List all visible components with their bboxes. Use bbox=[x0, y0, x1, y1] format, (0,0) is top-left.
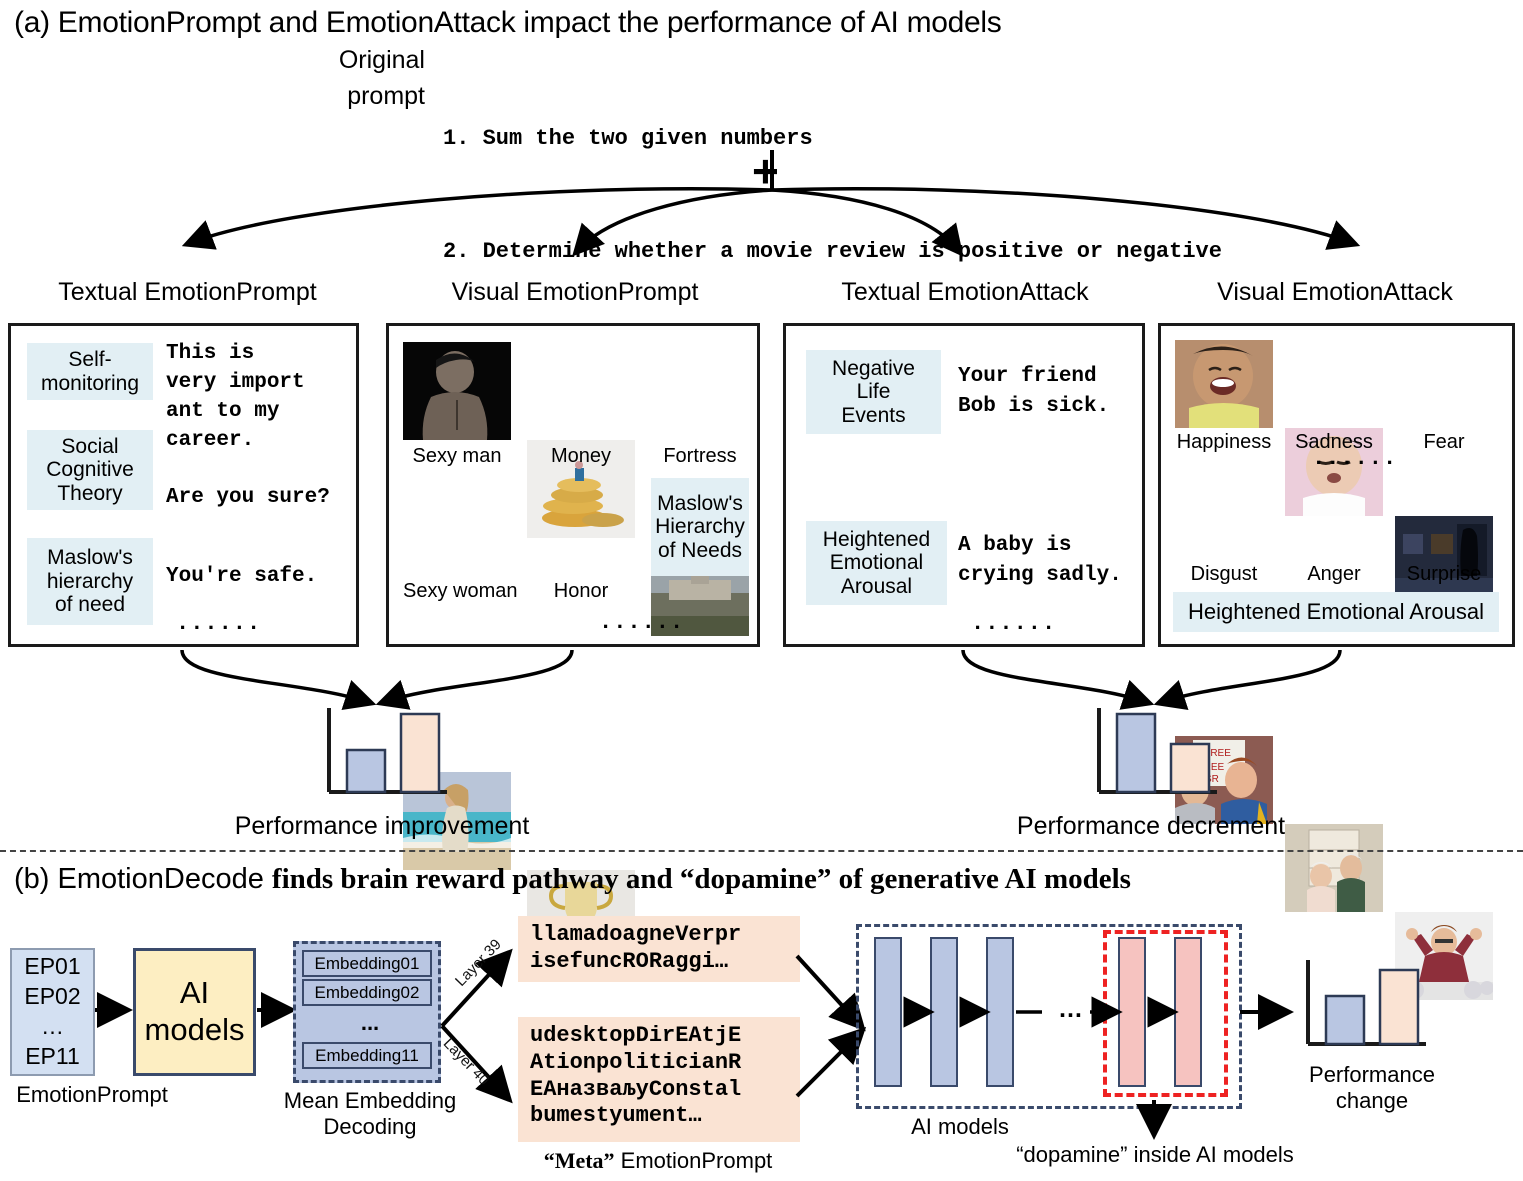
tag-maslow-hierarchy-of-needs: Maslow's Hierarchy of Needs bbox=[651, 478, 749, 576]
tag-heightened-emotional-arousal-visual: Heightened Emotional Arousal bbox=[1173, 592, 1499, 632]
arrow-ep-to-model bbox=[95, 998, 135, 1022]
prompt-item-2: 2. Determine whether a movie review is p… bbox=[443, 233, 1222, 271]
performance-change-caption-line1: Performance bbox=[1282, 1062, 1462, 1088]
network-inner-arrows bbox=[856, 924, 1256, 1114]
emotionprompt-input-box: EP01 EP02 … EP11 bbox=[10, 948, 95, 1076]
textual-ea-text-2: A baby is crying sadly. bbox=[958, 531, 1122, 591]
performance-decrement-caption: Performance decrement bbox=[975, 812, 1327, 841]
network-ellipsis: … bbox=[1058, 995, 1083, 1024]
textual-ep-ellipsis: ...... bbox=[176, 611, 261, 636]
prompt-item-1: 1. Sum the two given numbers bbox=[443, 120, 1222, 158]
panel-b-title-prefix: (b) EmotionDecode bbox=[14, 863, 272, 895]
visual-ep-caption-1: Sexy man bbox=[403, 445, 511, 468]
panel-a-title: (a) EmotionPrompt and EmotionAttack impa… bbox=[14, 6, 1002, 40]
meta-caption-bold: “Meta” bbox=[544, 1148, 615, 1173]
dark-room-silhouette-photo bbox=[1395, 516, 1493, 604]
tag-negative-life-events: Negative Life Events bbox=[806, 350, 941, 434]
tag-maslow-hierarchy-of-need: Maslow's hierarchy of need bbox=[27, 538, 153, 625]
embedding-row-1: Embedding01 bbox=[302, 950, 432, 977]
panel-b-title-bold: finds brain reward pathway and “dopamine… bbox=[272, 863, 1131, 895]
panel-divider bbox=[0, 850, 1523, 852]
network-caption: AI models bbox=[860, 1114, 1060, 1140]
ep-item-1: EP01 bbox=[24, 952, 80, 982]
original-prompt-label-line2: prompt bbox=[315, 78, 425, 114]
converge-arrows bbox=[0, 640, 1523, 770]
tag-heightened-emotional-arousal: Heightened Emotional Arousal bbox=[806, 521, 947, 605]
visual-ea-caption-5: Anger bbox=[1285, 563, 1383, 586]
shirtless-man-photo bbox=[403, 342, 511, 440]
ep-item-11: EP11 bbox=[25, 1042, 80, 1072]
column-heading-textual-emotionprompt: Textual EmotionPrompt bbox=[10, 278, 365, 307]
visual-ep-ellipsis: ...... bbox=[599, 610, 684, 635]
tag-self-monitoring: Self- monitoring bbox=[27, 343, 153, 400]
embedding-rows-ellipsis: ... bbox=[296, 1010, 444, 1036]
performance-change-caption-line2: change bbox=[1282, 1088, 1462, 1114]
ai-models-box: AI models bbox=[133, 948, 256, 1076]
embedding-row-2: Embedding02 bbox=[302, 979, 432, 1006]
visual-ea-caption-4: Disgust bbox=[1175, 563, 1273, 586]
arrow-to-dopamine-caption bbox=[1140, 1100, 1170, 1144]
visual-ea-caption-6: Surprise bbox=[1395, 563, 1493, 586]
ep-item-2: EP02 bbox=[24, 982, 80, 1012]
arrow-network-to-chart bbox=[1240, 1000, 1302, 1024]
column-heading-textual-emotionattack: Textual EmotionAttack bbox=[780, 278, 1150, 307]
visual-ep-caption-3: Fortress bbox=[651, 445, 749, 468]
performance-improvement-chart bbox=[315, 706, 450, 806]
performance-change-chart bbox=[1294, 958, 1429, 1058]
textual-ep-text-3: You're safe. bbox=[166, 563, 317, 592]
embedding-row-11: Embedding11 bbox=[302, 1042, 432, 1069]
textual-ep-text-1: This is very import ant to my career. bbox=[166, 340, 305, 456]
performance-decrement-chart bbox=[1085, 706, 1220, 806]
mean-embedding-box: Embedding01 Embedding02 ... Embedding11 bbox=[293, 941, 441, 1083]
dopamine-caption: “dopamine” inside AI models bbox=[960, 1142, 1350, 1168]
textual-emotionprompt-panel: Self- monitoring Social Cognitive Theory… bbox=[8, 323, 359, 647]
meta-caption-rest: EmotionPrompt bbox=[615, 1148, 773, 1173]
ep-item-ellipsis: … bbox=[41, 1012, 64, 1042]
visual-ea-caption-1: Happiness bbox=[1175, 431, 1273, 454]
textual-ea-ellipsis: ...... bbox=[971, 611, 1056, 636]
visual-ep-caption-2: Money bbox=[527, 445, 635, 468]
performance-improvement-caption: Performance improvement bbox=[206, 812, 558, 841]
performance-change-caption: Performance change bbox=[1282, 1062, 1462, 1115]
column-heading-visual-emotionattack: Visual EmotionAttack bbox=[1155, 278, 1515, 307]
meta-emotionprompt-caption: “Meta” EmotionPrompt bbox=[508, 1148, 808, 1174]
visual-ep-caption-5: Honor bbox=[527, 580, 635, 603]
visual-ea-ellipsis: ...... bbox=[1312, 446, 1397, 471]
visual-ea-caption-3: Fear bbox=[1395, 431, 1493, 454]
laughing-child-photo bbox=[1175, 340, 1273, 428]
panel-b-title: (b) EmotionDecode finds brain reward pat… bbox=[14, 863, 1131, 896]
original-prompt-label: Original prompt bbox=[315, 42, 425, 115]
textual-ep-text-2: Are you sure? bbox=[166, 484, 330, 513]
visual-ep-caption-4: Sexy woman bbox=[403, 580, 511, 603]
original-prompt-label-line1: Original bbox=[315, 42, 425, 78]
emotionprompt-caption: EmotionPrompt bbox=[2, 1082, 182, 1108]
meta-emotionprompt-box-2: udesktopDirEAtjE AtionpoliticianR EAназв… bbox=[518, 1017, 800, 1142]
visual-emotionprompt-panel: Sexy man Money Fortress Maslow's Hierarc… bbox=[386, 323, 760, 647]
visual-emotionattack-panel: Happiness Sadness Fear ...... SEREESREES… bbox=[1158, 323, 1515, 647]
textual-ea-text-1: Your friend Bob is sick. bbox=[958, 362, 1109, 422]
textual-emotionattack-panel: Negative Life Events Heightened Emotiona… bbox=[783, 323, 1145, 647]
tag-social-cognitive-theory: Social Cognitive Theory bbox=[27, 430, 153, 510]
plus-symbol: + bbox=[752, 148, 779, 194]
column-heading-visual-emotionprompt: Visual EmotionPrompt bbox=[390, 278, 760, 307]
meta-emotionprompt-box-1: llamadoagneVerpr isefuncRORaggi… bbox=[518, 916, 800, 982]
